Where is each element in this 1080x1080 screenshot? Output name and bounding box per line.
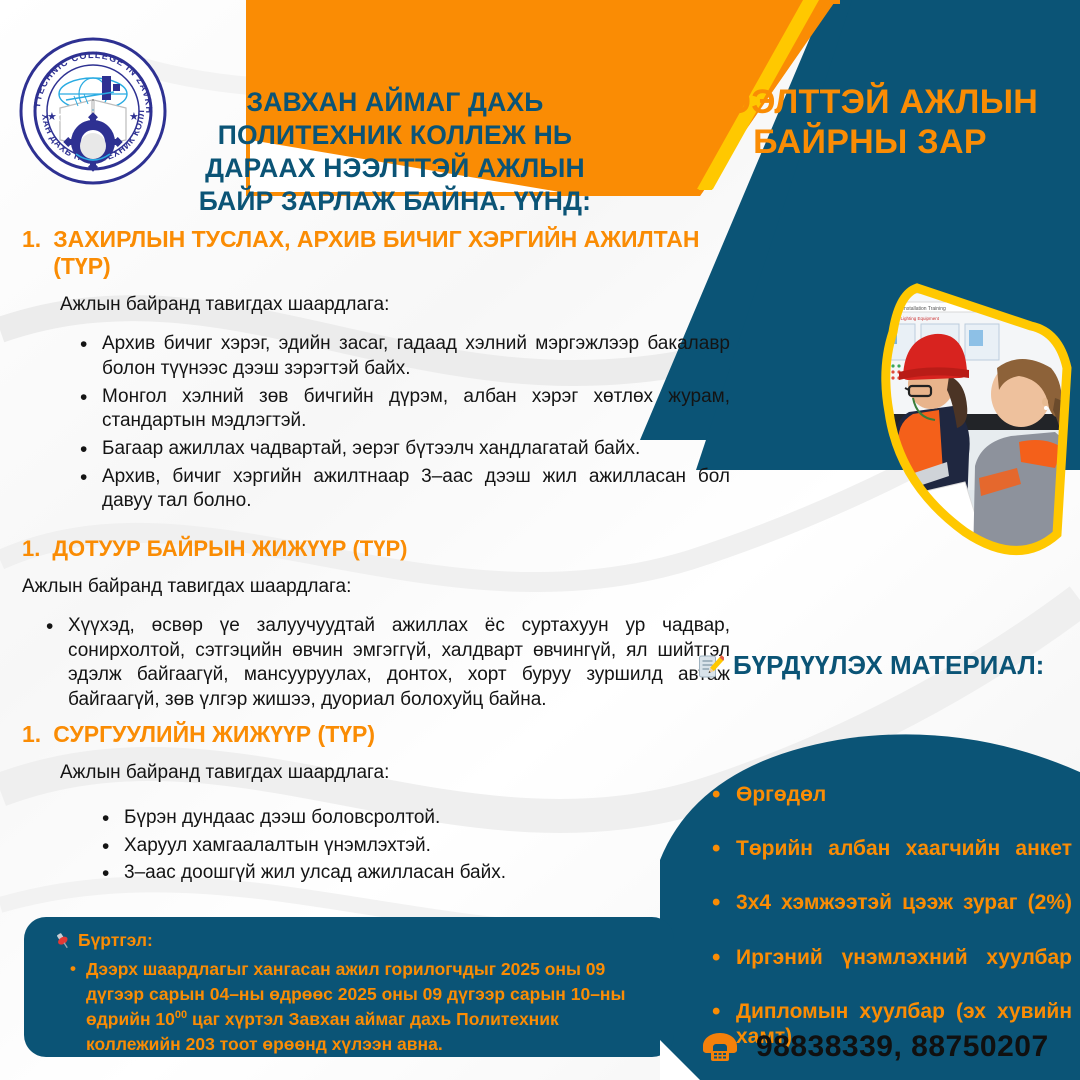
job-3-number: 1. xyxy=(22,721,41,748)
contact-phone-numbers: 98838339, 88750207 xyxy=(756,1030,1049,1064)
materials-heading-label: БҮРДҮҮЛЭХ МАТЕРИАЛ: xyxy=(733,650,1044,681)
telephone-icon xyxy=(700,1031,740,1063)
svg-text:Electrical Lighting Equipment: Electrical Lighting Equipment xyxy=(881,316,940,321)
registration-title: Бүртгэл: xyxy=(54,930,153,951)
registration-bullet: • xyxy=(70,957,76,1056)
reg-t2: оны xyxy=(540,959,586,979)
list-item: 3–аас доошгүй жил улсад ажилласан байх. xyxy=(102,861,730,886)
job-section-3: 1. СУРГУУЛИЙН ЖИЖҮҮР (ТҮР) Ажлын байранд… xyxy=(22,721,740,886)
job-3-heading: 1. СУРГУУЛИЙН ЖИЖҮҮР (ТҮР) xyxy=(22,721,740,748)
job-2-heading: 1. ДОТУУР БАЙРЫН ЖИЖҮҮР (ТҮР) xyxy=(22,536,740,562)
reg-month1: 09 xyxy=(586,959,605,979)
college-logo: POLYTECHNIC COLLEGE IN ZAVKHAN ЗАВХАН ДА… xyxy=(18,36,168,186)
poster-root: POLYTECHNIC COLLEGE IN ZAVKHAN ЗАВХАН ДА… xyxy=(0,0,1080,1080)
svg-text:★: ★ xyxy=(47,111,57,123)
reg-t9: тоот өрөөнд хүлээн авна. xyxy=(215,1034,443,1054)
job-section-1: 1. ЗАХИРЛЫН ТУСЛАХ, АРХИВ БИЧИГ ХЭРГИЙН … xyxy=(22,226,740,514)
reg-room: 203 xyxy=(186,1034,215,1054)
list-item: Багаар ажиллах чадвартай, эерэг бүтээлч … xyxy=(80,437,730,462)
registration-title-label: Бүртгэл: xyxy=(78,930,153,951)
list-item: Төрийн албан хаагчийн анкет xyxy=(710,836,1072,887)
job-2-title: ДОТУУР БАЙРЫН ЖИЖҮҮР (ТҮР) xyxy=(52,536,740,562)
reg-month2: 09 xyxy=(423,984,442,1004)
list-item: Хүүхэд, өсвөр үе залуучуудтай ажиллах ёс… xyxy=(46,614,730,713)
job-2-number: 1. xyxy=(22,536,40,562)
job-2-req-label: Ажлын байранд тавигдах шаардлага: xyxy=(22,576,740,598)
reg-year2: 2025 xyxy=(338,984,377,1004)
reg-t4: –ны өдрөөс xyxy=(229,984,338,1004)
list-item: Архив бичиг хэрэг, эдийн засаг, гадаад х… xyxy=(80,332,730,381)
reg-time: 10 xyxy=(155,1009,174,1029)
reg-t5: оны xyxy=(377,984,423,1004)
list-item: Иргэний үнэмлэхний хуулбар xyxy=(710,945,1072,996)
list-item: Архив, бичиг хэргийн ажилтнаар 3–аас дээ… xyxy=(80,465,730,514)
contact-phone[interactable]: 98838339, 88750207 xyxy=(700,1030,1049,1064)
memo-pencil-icon xyxy=(698,653,724,679)
job-3-title: СУРГУУЛИЙН ЖИЖҮҮР (ТҮР) xyxy=(53,721,740,748)
reg-time-sup: 00 xyxy=(175,1009,187,1021)
job-2-req-list: Хүүхэд, өсвөр үе залуучуудтай ажиллах ёс… xyxy=(22,614,740,713)
headline-badge: НЭЭЛТТЭЙ АЖЛЫН БАЙРНЫ ЗАР xyxy=(690,82,1050,162)
job-1-title: ЗАХИРЛЫН ТУСЛАХ, АРХИВ БИЧИГ ХЭРГИЙН АЖИ… xyxy=(53,226,740,280)
job-section-2: 1. ДОТУУР БАЙРЫН ЖИЖҮҮР (ТҮР) Ажлын байр… xyxy=(22,536,740,713)
registration-panel: Бүртгэл: • Дээрх шаардлагыг хангасан ажи… xyxy=(24,917,674,1057)
registration-body: • Дээрх шаардлагыг хангасан ажил горилог… xyxy=(70,957,650,1056)
svg-text:Electrical Installation Traini: Electrical Installation Training xyxy=(881,306,946,312)
page-title: ЗАВХАН АЙМАГ ДАХЬ ПОЛИТЕХНИК КОЛЛЕЖ НЬ Д… xyxy=(170,86,620,217)
reg-day1: 04 xyxy=(210,984,229,1004)
job-3-req-label: Ажлын байранд тавигдах шаардлага: xyxy=(60,762,740,784)
registration-text: Дээрх шаардлагыг хангасан ажил горилогчд… xyxy=(86,957,650,1056)
pushpin-icon xyxy=(54,932,72,950)
reg-t1: Дээрх шаардлагыг хангасан ажил горилогчд… xyxy=(86,959,501,979)
list-item: Өргөдөл xyxy=(710,782,1072,833)
list-item: 3х4 хэмжээтэй цээж зураг (2%) xyxy=(710,890,1072,941)
job-1-heading: 1. ЗАХИРЛЫН ТУСЛАХ, АРХИВ БИЧИГ ХЭРГИЙН … xyxy=(22,226,740,280)
job-1-req-list: Архив бичиг хэрэг, эдийн засаг, гадаад х… xyxy=(22,332,740,514)
job-1-number: 1. xyxy=(22,226,41,253)
reg-t3: дүгээр сарын xyxy=(86,984,210,1004)
list-item: Харуул хамгаалалтын үнэмлэхтэй. xyxy=(102,834,730,859)
job-listings: 1. ЗАХИРЛЫН ТУСЛАХ, АРХИВ БИЧИГ ХЭРГИЙН … xyxy=(22,226,740,889)
job-1-req-label: Ажлын байранд тавигдах шаардлага: xyxy=(60,294,740,316)
list-item: Бүрэн дундаас дээш боловсролтой. xyxy=(102,806,730,831)
reg-year1: 2025 xyxy=(501,959,540,979)
reg-day2: 10 xyxy=(571,984,590,1004)
training-photo: Electrical Installation Training Electri… xyxy=(869,272,1080,562)
list-item: Монгол хэлний зөв бичгийн дүрэм, албан х… xyxy=(80,385,730,434)
reg-t6: дүгээр сарын xyxy=(442,984,571,1004)
svg-text:★: ★ xyxy=(129,111,139,123)
materials-heading: БҮРДҮҮЛЭХ МАТЕРИАЛ: xyxy=(698,650,1044,681)
job-3-req-list: Бүрэн дундаас дээш боловсролтой. Харуул … xyxy=(22,806,740,886)
